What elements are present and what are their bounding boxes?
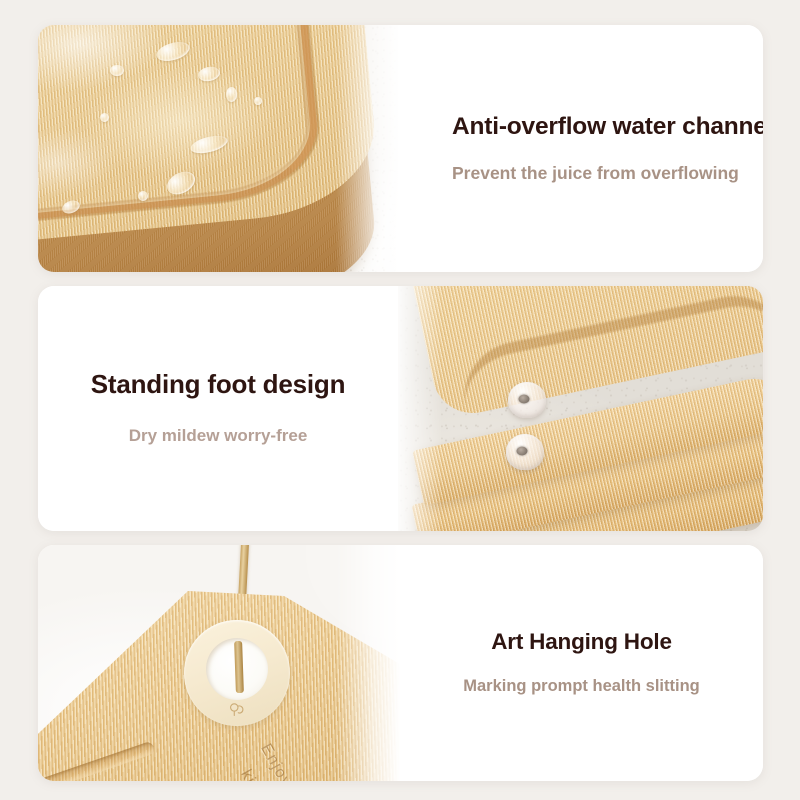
product-photo-hanging-hole: Enjoy kitche <box>38 545 400 781</box>
water-droplet <box>226 87 237 102</box>
silicone-standing-foot <box>508 382 546 418</box>
silicone-standing-foot <box>506 434 544 470</box>
feature-text-standing-foot: Standing foot design Dry mildew worry-fr… <box>38 286 398 531</box>
feature-card-art-hanging-hole: Enjoy kitche Art Hanging Hole Marking pr… <box>38 545 763 781</box>
infographic-page: Anti-overflow water channel Prevent the … <box>0 0 800 800</box>
feature-subtitle: Dry mildew worry-free <box>129 426 308 446</box>
feature-subtitle: Prevent the juice from overflowing <box>452 163 739 184</box>
feature-text-anti-overflow: Anti-overflow water channel Prevent the … <box>400 25 763 272</box>
feature-card-anti-overflow-water-channel: Anti-overflow water channel Prevent the … <box>38 25 763 272</box>
feature-subtitle: Marking prompt health slitting <box>463 677 700 697</box>
water-droplet <box>100 113 109 122</box>
water-droplet <box>254 97 262 105</box>
product-photo-water-channel <box>38 25 400 272</box>
product-photo-standing-feet <box>398 286 763 531</box>
feature-card-standing-foot-design: Standing foot design Dry mildew worry-fr… <box>38 286 763 531</box>
water-droplet <box>110 65 124 76</box>
leaf-badge-icon <box>229 702 246 717</box>
incised-slot <box>38 741 156 781</box>
feature-text-art-hanging-hole: Art Hanging Hole Marking prompt health s… <box>400 545 763 781</box>
feature-title: Standing foot design <box>91 370 346 400</box>
feature-title: Anti-overflow water channel <box>452 113 763 141</box>
engraved-brand-line-1: Enjoy <box>256 741 295 781</box>
water-droplet <box>138 191 148 201</box>
feature-title: Art Hanging Hole <box>491 629 672 655</box>
